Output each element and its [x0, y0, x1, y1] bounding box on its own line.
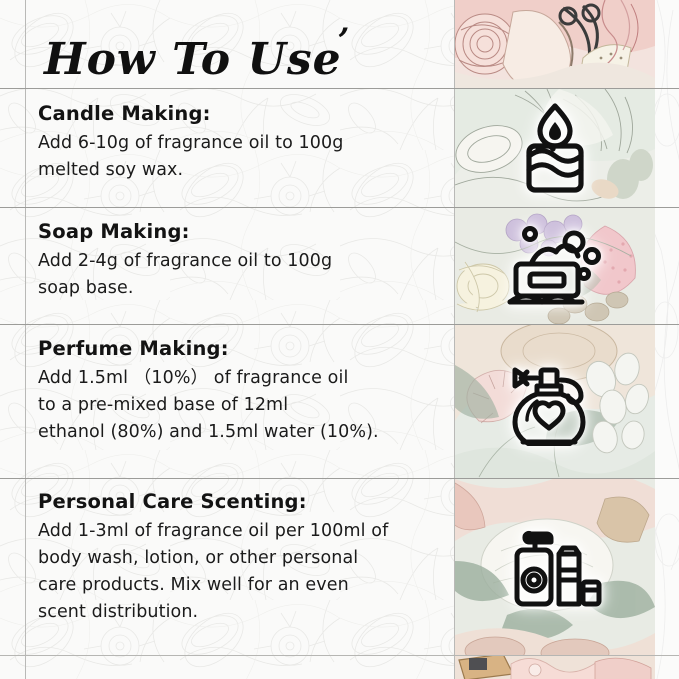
body-line: to a pre-mixed base of 12ml: [38, 392, 438, 419]
rose-scissors-photo: [455, 0, 655, 88]
body-line: Add 2-4g of fragrance oil to 100g: [38, 248, 438, 275]
body-line: Add 1-3ml of fragrance oil per 100ml of: [38, 518, 438, 545]
body-line: Add 1.5ml （10%） of fragrance oil: [38, 365, 438, 392]
divider-5: [0, 655, 679, 656]
lotion-bottle-icon: [455, 479, 655, 655]
body-line: care products. Mix well for an even: [38, 572, 438, 599]
section-candle-making: Candle Making: Add 6-10g of fragrance oi…: [38, 102, 438, 184]
candle-icon: [455, 89, 655, 207]
body-line: body wash, lotion, or other personal: [38, 545, 438, 572]
body-line: scent distribution.: [38, 599, 438, 626]
right-margin-texture: [655, 0, 679, 679]
page-title: How To Use’: [44, 9, 350, 92]
left-margin-rule: [25, 0, 26, 679]
section-body: Add 1.5ml （10%） of fragrance oil to a pr…: [38, 365, 438, 446]
section-heading: Perfume Making:: [38, 337, 438, 360]
section-heading: Personal Care Scenting:: [38, 490, 438, 513]
section-personal-care-scenting: Personal Care Scenting: Add 1-3ml of fra…: [38, 490, 438, 626]
section-heading: Soap Making:: [38, 220, 438, 243]
body-line: ethanol (80%) and 1.5ml water (10%).: [38, 419, 438, 446]
body-line: soap base.: [38, 275, 438, 302]
flowers-frame-photo: [455, 656, 655, 679]
perfume-bottle-icon: [455, 325, 655, 478]
how-to-use-infographic: How To Use’ Candle Making: Add 6-10g of …: [0, 0, 679, 679]
section-body: Add 6-10g of fragrance oil to 100g melte…: [38, 130, 438, 184]
title-flourish: ’: [338, 21, 351, 61]
page-title-text: How To Use: [44, 34, 342, 85]
section-perfume-making: Perfume Making: Add 1.5ml （10%） of fragr…: [38, 337, 438, 446]
section-body: Add 1-3ml of fragrance oil per 100ml of …: [38, 518, 438, 626]
section-heading: Candle Making:: [38, 102, 438, 125]
body-line: melted soy wax.: [38, 157, 438, 184]
section-body: Add 2-4g of fragrance oil to 100g soap b…: [38, 248, 438, 302]
soap-bar-icon: [455, 208, 655, 324]
body-line: Add 6-10g of fragrance oil to 100g: [38, 130, 438, 157]
section-soap-making: Soap Making: Add 2-4g of fragrance oil t…: [38, 220, 438, 302]
